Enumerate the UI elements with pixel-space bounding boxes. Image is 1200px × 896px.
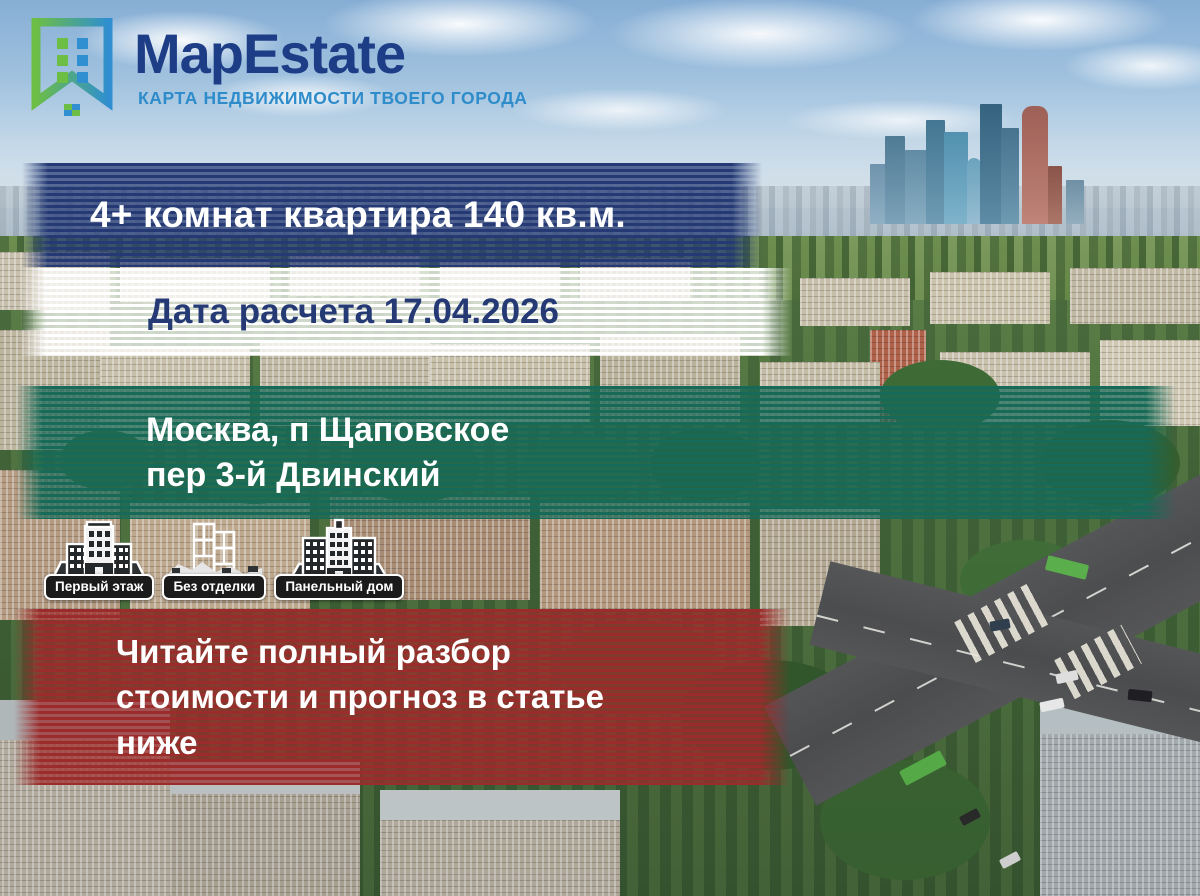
- feature-label: Панельный дом: [274, 574, 404, 600]
- bookmark-building-icon: [30, 18, 114, 116]
- cta-line-1: Читайте полный разбор: [116, 629, 790, 675]
- brand-wordmark: MapEstate: [134, 26, 405, 82]
- call-to-action-text: Читайте полный разбор стоимости и прогно…: [14, 629, 790, 766]
- feature-label: Первый этаж: [44, 574, 154, 600]
- cta-line-2: стоимости и прогноз в статье: [116, 674, 790, 720]
- cta-line-3: ниже: [116, 720, 790, 766]
- feature-first-floor: Первый этаж: [44, 518, 154, 600]
- promo-poster: 4+ комнат квартира 140 кв.м. Дата расчет…: [0, 0, 1200, 896]
- feature-no-finishing: Без отделки: [162, 518, 266, 600]
- skyline-towers: [870, 92, 1100, 224]
- feature-badges: Первый этаж: [44, 518, 404, 600]
- address-text: Москва, п Щаповское пер 3-й Двинский: [16, 408, 1176, 498]
- panel-apartment-block-icon: [287, 518, 391, 580]
- address-line-street: пер 3-й Двинский: [146, 453, 1176, 498]
- rooms-area-banner: 4+ комнат квартира 140 кв.м.: [22, 163, 762, 267]
- unfinished-construction-icon: [162, 518, 266, 580]
- address-line-city: Москва, п Щаповское: [146, 408, 1176, 453]
- feature-panel-house: Панельный дом: [274, 518, 404, 600]
- brand-logo[interactable]: MapEstate КАРТА НЕДВИЖИМОСТИ ТВОЕГО ГОРО…: [30, 18, 530, 118]
- feature-label: Без отделки: [162, 574, 266, 600]
- call-to-action-banner: Читайте полный разбор стоимости и прогно…: [14, 609, 790, 785]
- address-banner: Москва, п Щаповское пер 3-й Двинский: [16, 386, 1176, 519]
- building-first-floor-icon: [51, 518, 147, 580]
- calculation-date-text: Дата расчета 17.04.2026: [20, 293, 792, 332]
- rooms-area-text: 4+ комнат квартира 140 кв.м.: [22, 195, 762, 236]
- calculation-date-banner: Дата расчета 17.04.2026: [20, 268, 792, 356]
- car: [1127, 689, 1152, 702]
- brand-tagline: КАРТА НЕДВИЖИМОСТИ ТВОЕГО ГОРОДА: [138, 88, 528, 109]
